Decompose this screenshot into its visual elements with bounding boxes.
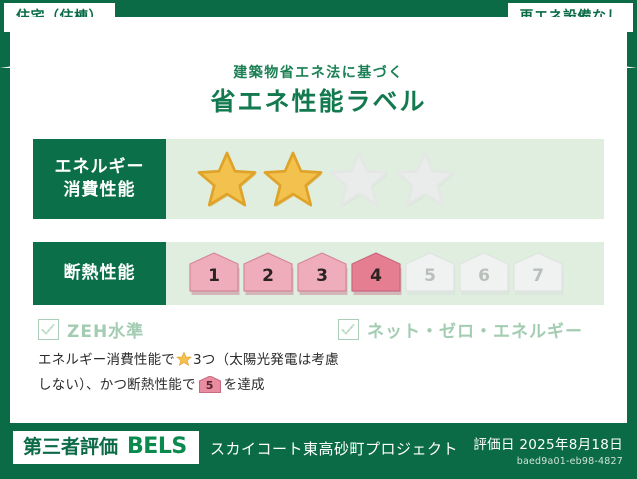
footer-bar: 第三者評価 BELS スカイコート東高砂町プロジェクト 評価日 2025年8月1… (0, 423, 637, 479)
page-title: 省エネ性能ラベル (10, 86, 627, 117)
netzero-checkbox-icon (338, 319, 359, 340)
energy-performance-value (166, 139, 604, 219)
house-level-7: 7 (512, 251, 564, 296)
house-level-number: 5 (404, 268, 456, 285)
criteria-zeh-header: ZEH水準 (38, 317, 338, 342)
house-level-6: 6 (458, 251, 510, 296)
house-level-number: 6 (458, 268, 510, 285)
criteria-zeh-description: エネルギー消費性能で 3つ（太陽光発電は考慮しない）、かつ断熱性能で 5 を達成 (38, 349, 348, 397)
house-level-number: 7 (512, 268, 564, 285)
star-filled-icon (196, 149, 258, 209)
house-level-1: 1 (188, 251, 240, 296)
project-name: スカイコート東高砂町プロジェクト (210, 438, 458, 459)
star-empty-icon (328, 149, 390, 209)
insulation-performance-label: 断熱性能 (33, 242, 166, 305)
criteria-netzero-column: ネット・ゼロ・エネルギー (338, 317, 598, 397)
energy-label-line1: エネルギー (55, 156, 145, 179)
house-level-5: 5 (404, 251, 456, 296)
house-level-2: 2 (242, 251, 294, 296)
insulation-performance-row: 断熱性能 1234567 (33, 242, 604, 305)
house-rating-scale: 1234567 (188, 251, 564, 296)
bels-logo-badge: 第三者評価 BELS (13, 431, 199, 464)
inline-star-icon (176, 351, 192, 374)
house-level-number: 3 (296, 268, 348, 285)
criteria-netzero-header: ネット・ゼロ・エネルギー (338, 317, 598, 342)
zeh-desc-stars: 3つ（太陽光発電 (193, 352, 298, 368)
star-filled-icon (262, 149, 324, 209)
inline-house-number: 5 (199, 380, 221, 391)
energy-label-root: 住宅（住棟） 再エネ設備なし 建築物省エネ法に基づく 省エネ性能ラベル エネルギ… (0, 0, 637, 479)
house-level-4: 4 (350, 251, 402, 296)
zeh-checkbox-icon (38, 319, 59, 340)
zeh-desc-part1: エネルギー消費性能で (38, 352, 175, 368)
zeh-desc-part3: を達成 (224, 377, 265, 393)
star-rating (196, 149, 456, 209)
criteria-block: ZEH水準 エネルギー消費性能で 3つ（太陽光発電は考慮しない）、かつ断熱性能で (38, 317, 603, 397)
energy-performance-label: エネルギー 消費性能 (33, 139, 166, 219)
insulation-label-text: 断熱性能 (64, 262, 136, 285)
house-level-3: 3 (296, 251, 348, 296)
bels-jp-text: 第三者評価 (23, 438, 118, 457)
title-subtitle: 建築物省エネ法に基づく (10, 65, 627, 82)
house-level-number: 4 (350, 268, 402, 285)
evaluation-date: 評価日 2025年8月18日 (473, 433, 623, 453)
title-block: 建築物省エネ法に基づく 省エネ性能ラベル (10, 65, 627, 117)
house-level-number: 1 (188, 268, 240, 285)
evaluation-info: 評価日 2025年8月18日 baed9a01-eb98-4827 (473, 433, 623, 467)
label-card: 建築物省エネ法に基づく 省エネ性能ラベル エネルギー 消費性能 断熱性能 (10, 17, 627, 423)
energy-performance-row: エネルギー 消費性能 (33, 139, 604, 219)
house-level-number: 2 (242, 268, 294, 285)
insulation-performance-value: 1234567 (166, 242, 604, 305)
star-empty-icon (394, 149, 456, 209)
evaluation-id: baed9a01-eb98-4827 (473, 456, 623, 467)
criteria-zeh-column: ZEH水準 エネルギー消費性能で 3つ（太陽光発電は考慮しない）、かつ断熱性能で (38, 317, 338, 397)
criteria-netzero-title: ネット・ゼロ・エネルギー (367, 317, 583, 342)
energy-label-line2: 消費性能 (64, 179, 136, 202)
inline-house-badge: 5 (199, 376, 221, 393)
bels-en-text: BELS (127, 436, 187, 458)
criteria-zeh-title: ZEH水準 (67, 317, 144, 342)
